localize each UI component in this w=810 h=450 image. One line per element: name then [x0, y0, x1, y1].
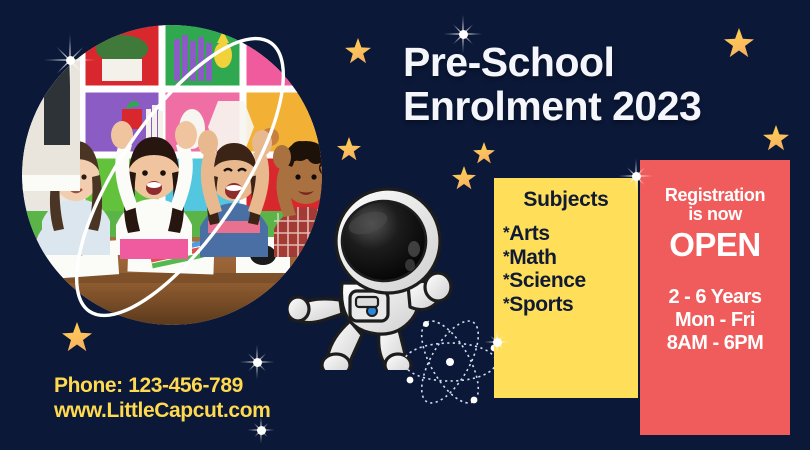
subject-label: Science [509, 269, 586, 292]
website-url: www.LittleCapcut.com [54, 398, 384, 423]
sparkle-icon [247, 416, 275, 444]
star-icon [763, 125, 789, 151]
registration-panel: Registration is now OPEN 2 - 6 Years Mon… [640, 160, 790, 435]
subjects-list: *Arts *Math *Science *Sports [494, 222, 638, 316]
registration-line-2: is now [640, 205, 790, 224]
sparkle-icon [43, 33, 97, 87]
star-icon [337, 137, 361, 161]
list-item: *Science [503, 269, 638, 293]
subject-label: Math [509, 246, 556, 269]
status-badge: OPEN [640, 227, 790, 263]
age-range: 2 - 6 Years [640, 286, 790, 309]
star-icon [62, 322, 92, 352]
poster-canvas: Pre-School Enrolment 2023 [0, 0, 810, 450]
headline-line-1: Pre-School [403, 39, 614, 85]
sparkle-icon [239, 344, 275, 380]
star-icon [345, 38, 371, 64]
subject-label: Arts [509, 222, 549, 245]
sparkle-icon [618, 158, 654, 194]
sparkle-icon [443, 14, 483, 54]
hours-open: 8AM - 6PM [640, 332, 790, 355]
list-item: *Arts [503, 222, 638, 246]
list-item: *Sports [503, 293, 638, 317]
contact-info: Phone: 123-456-789 www.LittleCapcut.com [54, 373, 384, 423]
registration-line-1: Registration [640, 186, 790, 205]
sparkle-icon [484, 329, 510, 355]
subjects-title: Subjects [494, 188, 638, 212]
phone-number: Phone: 123-456-789 [54, 373, 384, 398]
registration-details: 2 - 6 Years Mon - Fri 8AM - 6PM [640, 286, 790, 356]
list-item: *Math [503, 246, 638, 270]
subjects-panel: Subjects *Arts *Math *Science *Sports [494, 178, 638, 398]
atom-icon [398, 312, 503, 412]
star-icon [473, 142, 495, 164]
subject-label: Sports [509, 293, 573, 316]
days-open: Mon - Fri [640, 309, 790, 332]
headline-line-2: Enrolment 2023 [403, 84, 803, 128]
